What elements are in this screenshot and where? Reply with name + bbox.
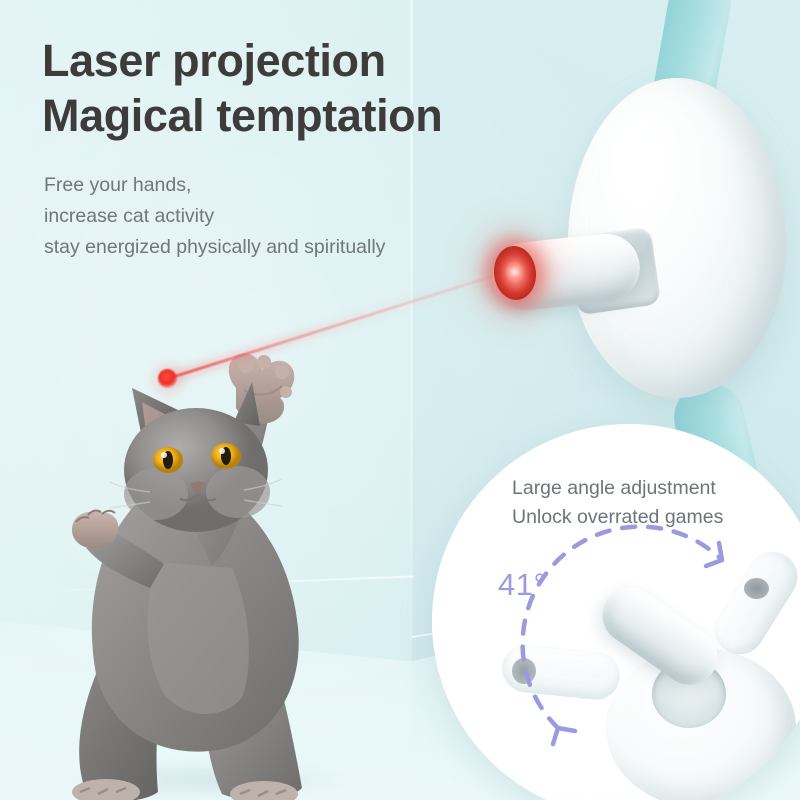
- laser-lens-core: [506, 262, 523, 282]
- inset-barrel-ghost-high-aperture: [744, 578, 769, 599]
- product-banner: Laser projection Magical temptation Free…: [0, 0, 800, 800]
- subcopy: Free your hands, increase cat activity s…: [44, 170, 514, 264]
- inset-barrel-ghost-low-aperture: [512, 658, 536, 684]
- inset-barrel-ghost-high: [705, 542, 800, 663]
- headline: Laser projection Magical temptation: [42, 34, 562, 144]
- angle-label: 41°: [498, 567, 546, 603]
- laser-dot-icon: [158, 369, 177, 388]
- cat-photo: [46, 352, 386, 800]
- inset-title: Large angle adjustment Unlock overrated …: [512, 474, 800, 531]
